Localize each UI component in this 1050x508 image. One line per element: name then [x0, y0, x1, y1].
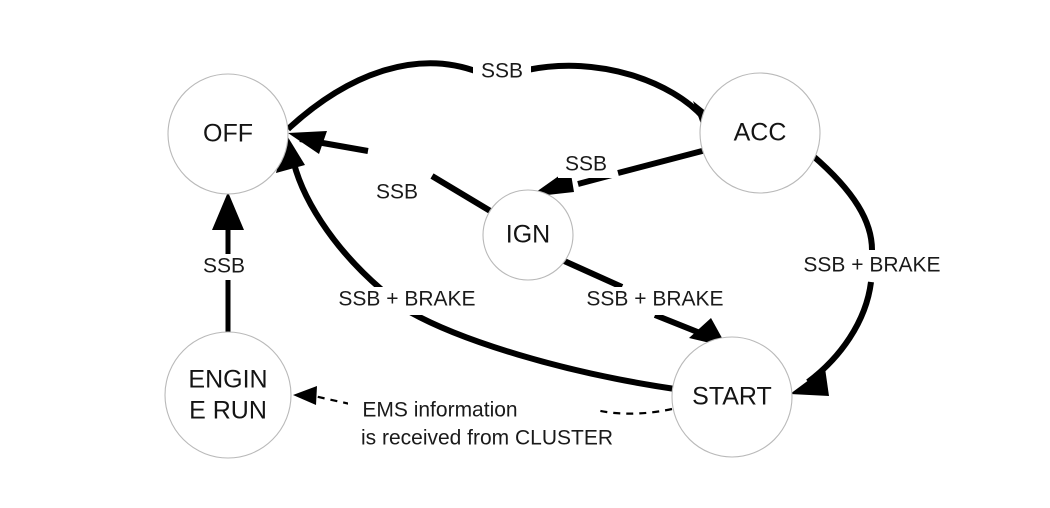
arrowhead-into-off-from-enginerun — [212, 192, 244, 230]
edge-label-start-to-off-text: SSB + BRAKE — [338, 288, 475, 311]
edge-acc-to-ign-path — [618, 150, 706, 173]
edge-start-to-off-path-lower — [410, 312, 675, 389]
edge-label-ign-to-start: SSB + BRAKE — [578, 287, 733, 315]
node-engine-run-circle[interactable] — [165, 332, 291, 458]
arrowhead-into-enginerun — [293, 386, 317, 405]
edge-label-acc-to-start-text: SSB + BRAKE — [803, 254, 940, 277]
edge-label-acc-to-ign-text: SSB — [565, 153, 607, 176]
node-start[interactable]: START — [672, 337, 792, 457]
edge-label-acc-to-start: SSB + BRAKE — [789, 252, 956, 280]
node-start-label: START — [692, 383, 772, 411]
state-diagram-svg: OFF ACC IGN ENGIN E RUN START SSB SSB — [0, 0, 1050, 508]
edge-label-acc-to-ign: SSB — [558, 152, 614, 178]
edge-label-enginerun-to-off: SSB — [196, 254, 252, 280]
arrowhead-into-start-from-acc — [790, 368, 829, 396]
node-engine-run-label-line2: E RUN — [189, 397, 267, 425]
edge-label-ign-to-off-text: SSB — [376, 181, 418, 204]
edge-start-to-off — [276, 134, 675, 389]
edge-label-start-to-enginerun: EMS information is received from CLUSTER — [348, 397, 613, 450]
edge-label-enginerun-to-off-text: SSB — [203, 255, 245, 278]
edge-label-off-to-acc: SSB — [473, 58, 531, 84]
edge-label-start-to-enginerun-line1: EMS information — [362, 399, 517, 422]
edge-label-ign-to-start-text: SSB + BRAKE — [586, 288, 723, 311]
edge-label-start-to-off: SSB + BRAKE — [330, 287, 485, 315]
edge-off-to-acc-path-left — [288, 63, 478, 129]
edge-acc-to-start-path-upper — [812, 155, 872, 250]
node-acc-label: ACC — [734, 119, 787, 147]
node-engine-run[interactable]: ENGIN E RUN — [165, 332, 291, 458]
node-ign-label: IGN — [506, 221, 550, 249]
edge-label-ign-to-off: SSB — [369, 180, 425, 206]
edge-start-to-off-path-upper — [292, 155, 382, 290]
edge-ign-to-start-path-lower — [655, 315, 700, 333]
edge-ign-to-start-path-upper — [562, 260, 622, 287]
node-off[interactable]: OFF — [168, 74, 288, 194]
edge-acc-to-ign — [529, 150, 706, 197]
edge-label-off-to-acc-text: SSB — [481, 60, 523, 83]
edge-off-to-acc-path-right — [527, 66, 704, 118]
node-ign[interactable]: IGN — [483, 190, 573, 280]
node-off-label: OFF — [203, 120, 253, 148]
edge-start-to-enginerun-dash-right — [596, 409, 672, 414]
edge-acc-to-start-path-lower — [808, 282, 871, 382]
edge-label-start-to-enginerun-line2: is received from CLUSTER — [361, 427, 613, 450]
state-diagram-canvas: OFF ACC IGN ENGIN E RUN START SSB SSB — [0, 0, 1050, 508]
edge-ign-to-off-path-lower — [432, 176, 492, 212]
node-acc[interactable]: ACC — [700, 73, 820, 193]
node-engine-run-label-line1: ENGIN — [188, 366, 267, 394]
